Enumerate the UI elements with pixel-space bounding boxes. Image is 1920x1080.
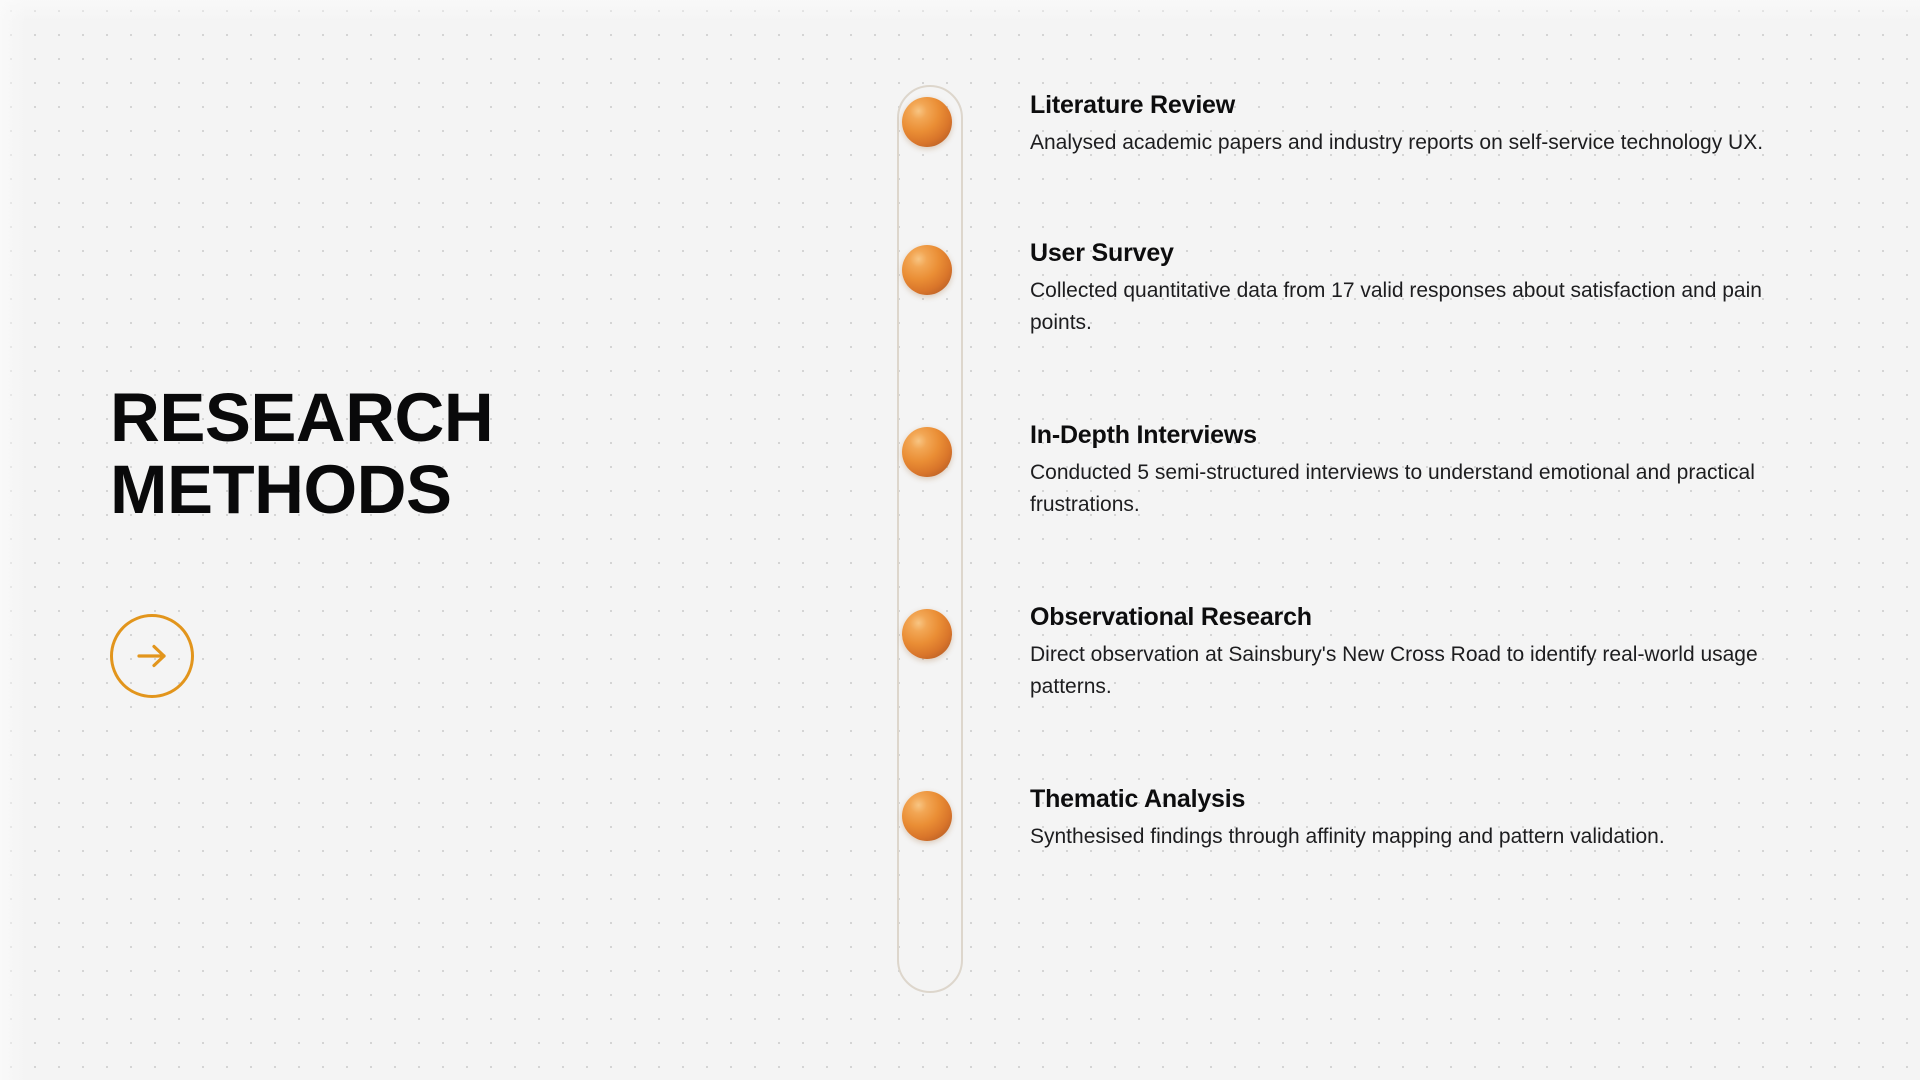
orange-sphere-node-icon <box>902 245 952 295</box>
timeline-item-text: In-Depth Interviews Conducted 5 semi-str… <box>1030 420 1830 520</box>
page-title-line-2: METHODS <box>110 451 452 528</box>
timeline-item-description: Direct observation at Sainsbury's New Cr… <box>1030 639 1820 702</box>
next-arrow-button[interactable] <box>110 614 194 698</box>
page-title: RESEARCH METHODS <box>110 382 580 526</box>
orange-sphere-node-icon <box>902 609 952 659</box>
timeline-item-title: In-Depth Interviews <box>1030 420 1830 450</box>
timeline-item-title: Thematic Analysis <box>1030 784 1830 814</box>
timeline-item-description: Synthesised findings through affinity ma… <box>1030 821 1820 853</box>
orange-sphere-node-icon <box>902 427 952 477</box>
research-methods-timeline: Literature Review Analysed academic pape… <box>897 85 1897 993</box>
timeline-item-description: Analysed academic papers and industry re… <box>1030 127 1820 159</box>
timeline-item-title: Literature Review <box>1030 90 1830 120</box>
slide-canvas: RESEARCH METHODS Literature Review Analy… <box>0 0 1920 1080</box>
timeline-item-title: Observational Research <box>1030 602 1830 632</box>
page-title-line-1: RESEARCH <box>110 379 493 456</box>
timeline-item-description: Conducted 5 semi-structured interviews t… <box>1030 457 1820 520</box>
timeline-item-title: User Survey <box>1030 238 1830 268</box>
timeline-item-description: Collected quantitative data from 17 vali… <box>1030 275 1820 338</box>
timeline-item-text: Thematic Analysis Synthesised findings t… <box>1030 784 1830 853</box>
arrow-right-icon <box>130 634 174 678</box>
left-panel: RESEARCH METHODS <box>110 0 730 1080</box>
timeline-item-text: User Survey Collected quantitative data … <box>1030 238 1830 338</box>
orange-sphere-node-icon <box>902 791 952 841</box>
timeline-item-text: Observational Research Direct observatio… <box>1030 602 1830 702</box>
orange-sphere-node-icon <box>902 97 952 147</box>
timeline-items: Literature Review Analysed academic pape… <box>897 85 1897 993</box>
timeline-item-text: Literature Review Analysed academic pape… <box>1030 90 1830 159</box>
